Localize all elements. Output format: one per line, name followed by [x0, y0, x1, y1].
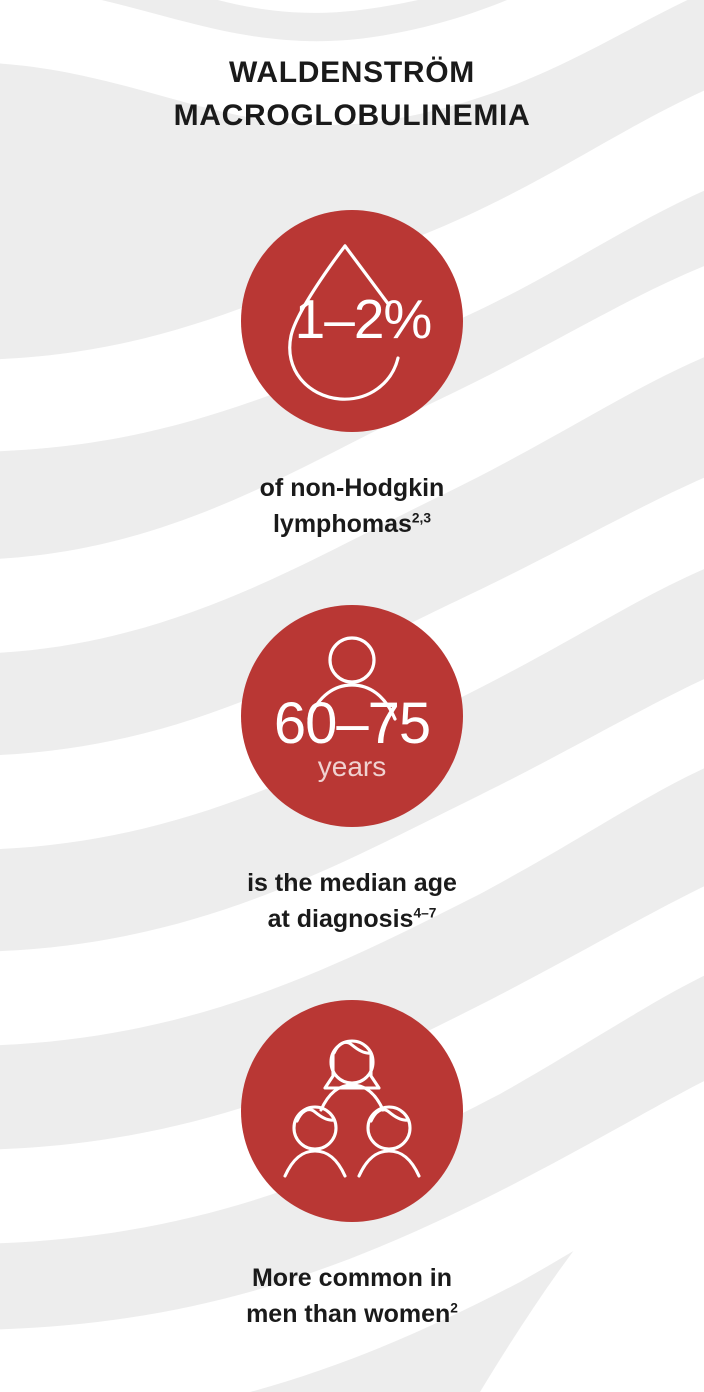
page-title: WALDENSTRÖM MACROGLOBULINEMIA	[0, 52, 704, 137]
stat-block-sex-distribution: More common in men than women2	[0, 1000, 704, 1333]
caption-line-1: of non-Hodgkin	[0, 470, 704, 506]
stat-circle-prevalence: 1–2%	[241, 210, 463, 432]
caption-text: men than women	[246, 1300, 450, 1328]
caption-line-2: men than women2	[0, 1296, 704, 1332]
citation-marker: 2	[450, 1301, 458, 1316]
citation-marker: 4–7	[413, 906, 436, 921]
title-line-1: WALDENSTRÖM	[0, 52, 704, 95]
stat-caption-prevalence: of non-Hodgkin lymphomas2,3	[0, 470, 704, 543]
caption-line-1: More common in	[0, 1260, 704, 1296]
citation-marker: 2,3	[412, 511, 431, 526]
blood-drop-icon	[241, 210, 463, 432]
caption-line-2: lymphomas2,3	[0, 506, 704, 542]
stat-block-prevalence: 1–2% of non-Hodgkin lymphomas2,3	[0, 210, 704, 543]
caption-line-2: at diagnosis4–7	[0, 901, 704, 937]
caption-text: at diagnosis	[268, 905, 414, 933]
caption-text: lymphomas	[273, 510, 412, 538]
infographic-poster: WALDENSTRÖM MACROGLOBULINEMIA 1–2% of no…	[0, 0, 704, 1392]
stat-circle-sex-distribution	[241, 1000, 463, 1222]
group-of-people-icon	[241, 1000, 463, 1222]
stat-circle-median-age: 60–75 years	[241, 605, 463, 827]
stat-block-median-age: 60–75 years is the median age at diagnos…	[0, 605, 704, 938]
caption-line-1: is the median age	[0, 865, 704, 901]
stat-caption-sex-distribution: More common in men than women2	[0, 1260, 704, 1333]
title-line-2: MACROGLOBULINEMIA	[0, 95, 704, 138]
stat-caption-median-age: is the median age at diagnosis4–7	[0, 865, 704, 938]
person-icon	[241, 605, 463, 827]
